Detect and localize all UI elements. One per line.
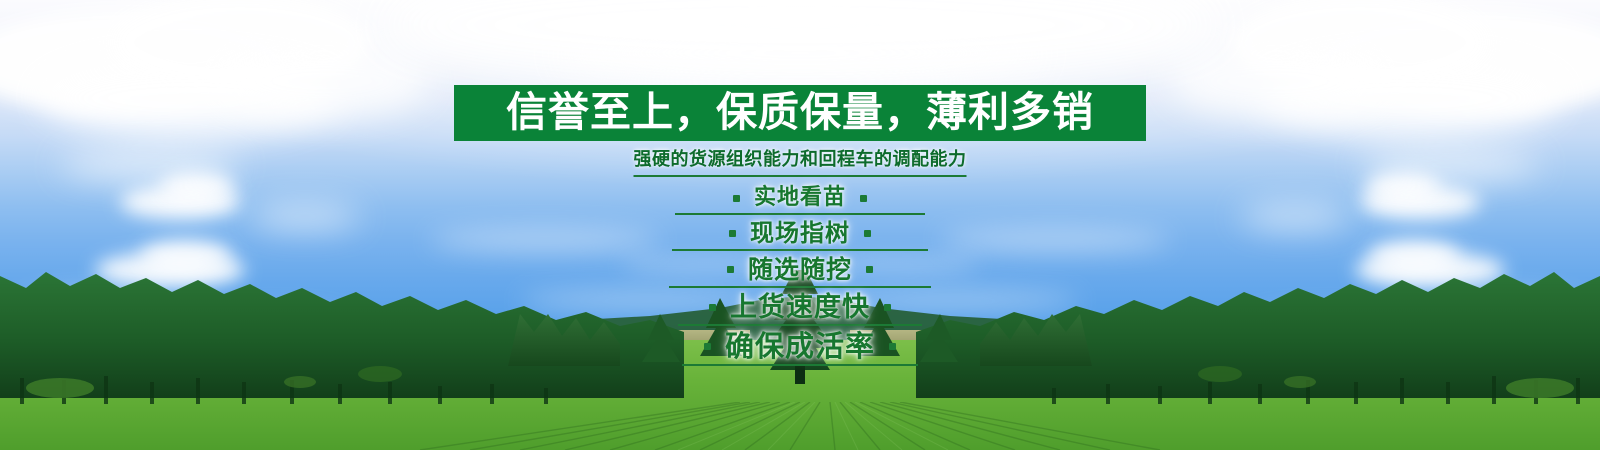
bullet-dot-icon bbox=[889, 343, 896, 350]
headline-banner-bar: 信誉至上，保质保量，薄利多销 bbox=[454, 85, 1146, 141]
feature-item-4: 上货速度快 bbox=[540, 288, 1060, 326]
feature-list: 实地看苗 现场指树 随选随挖 上货速度快 bbox=[540, 181, 1060, 366]
bullet-dot-icon bbox=[727, 266, 734, 273]
feature-label: 实地看苗 bbox=[754, 187, 846, 209]
bullet-dot-icon bbox=[709, 304, 716, 311]
bullet-dot-icon bbox=[864, 230, 871, 237]
feature-label: 上货速度快 bbox=[730, 294, 870, 321]
subtitle-text: 强硬的货源组织能力和回程车的调配能力 bbox=[634, 145, 967, 177]
bullet-dot-icon bbox=[704, 343, 711, 350]
feature-label: 确保成活率 bbox=[725, 332, 875, 361]
headline-text: 信誉至上，保质保量，薄利多销 bbox=[506, 92, 1094, 135]
feature-divider bbox=[682, 364, 918, 366]
feature-item-1: 实地看苗 bbox=[540, 181, 1060, 215]
bullet-dot-icon bbox=[884, 304, 891, 311]
feature-label: 现场指树 bbox=[750, 221, 850, 245]
promotional-banner: 信誉至上，保质保量，薄利多销 强硬的货源组织能力和回程车的调配能力 实地看苗 现… bbox=[0, 0, 1600, 450]
bullet-dot-icon bbox=[866, 266, 873, 273]
bullet-dot-icon bbox=[729, 230, 736, 237]
feature-item-3: 随选随挖 bbox=[540, 251, 1060, 288]
bullet-dot-icon bbox=[860, 195, 867, 202]
feature-item-2: 现场指树 bbox=[540, 215, 1060, 251]
feature-item-5: 确保成活率 bbox=[540, 326, 1060, 366]
crop-rows bbox=[0, 402, 1600, 450]
feature-label: 随选随挖 bbox=[748, 257, 852, 282]
bullet-dot-icon bbox=[733, 195, 740, 202]
